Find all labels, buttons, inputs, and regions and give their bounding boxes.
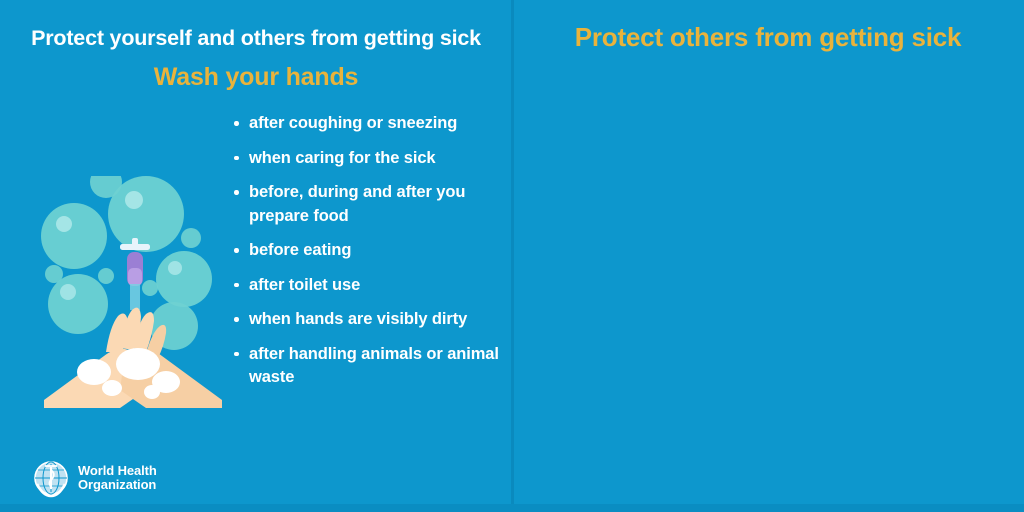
- handwashing-illustration: [34, 176, 232, 408]
- list-item: when caring for the sick: [232, 147, 500, 171]
- list-item: after coughing or sneezing: [232, 112, 500, 136]
- who-hygiene-infographic: Protect yourself and others from getting…: [0, 0, 1024, 512]
- who-emblem-icon: [31, 458, 71, 498]
- faucet-icon: [120, 238, 150, 310]
- right-panel-heading: Protect others from getting sick: [512, 0, 1024, 53]
- list-item: after toilet use: [232, 274, 500, 298]
- who-logo-left: World Health Organization: [31, 458, 157, 498]
- handwashing-bullet-list: after coughing or sneezing when caring f…: [232, 112, 500, 401]
- list-item: when hands are visibly dirty: [232, 308, 500, 332]
- who-logo-text: World Health Organization: [78, 464, 157, 493]
- bottom-band: [0, 504, 1024, 512]
- left-panel: Protect yourself and others from getting…: [0, 0, 512, 512]
- panel-divider: [511, 0, 514, 512]
- left-panel-sub-heading: Wash your hands: [0, 51, 512, 92]
- list-item: before, during and after you prepare foo…: [232, 181, 500, 228]
- left-panel-main-heading: Protect yourself and others from getting…: [0, 0, 512, 51]
- who-logo-line2: Organization: [78, 477, 156, 492]
- right-panel: Protect others from getting sick When co…: [512, 0, 1024, 512]
- who-logo-line1: World Health: [78, 463, 157, 478]
- list-item: before eating: [232, 239, 500, 263]
- list-item: after handling animals or animal waste: [232, 343, 500, 390]
